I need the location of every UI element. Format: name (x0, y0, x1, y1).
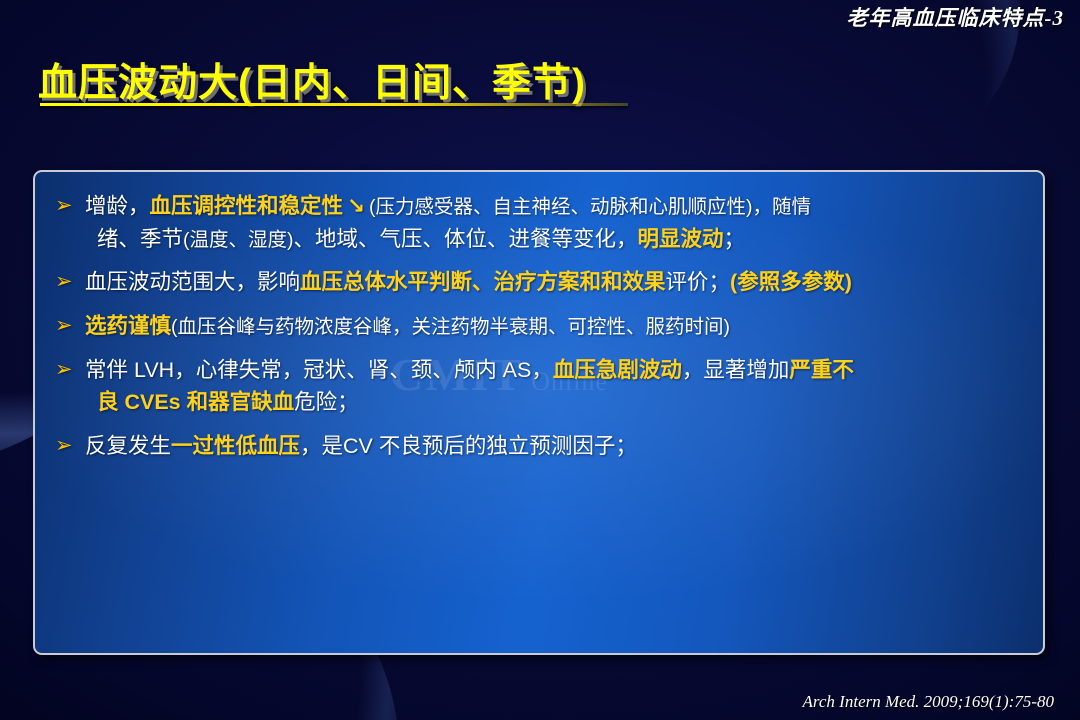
bullet-line: 反复发生一过性低血压，是CV 不良预后的独立预测因子； (85, 430, 1029, 463)
page-title: 血压波动大(日内、日间、季节) (38, 52, 586, 108)
text-segment: 常伴 LVH，心律失常，冠状、肾、颈、颅内 AS， (85, 358, 553, 382)
bullet-text: 反复发生一过性低血压，是CV 不良预后的独立预测因子； (85, 430, 1029, 463)
text-segment: 血压波动范围大，影响 (85, 270, 300, 294)
bullet-line: 绪、季节(温度、湿度)、地域、气压、体位、进餐等变化，明显波动； (85, 223, 1029, 256)
text-segment: 血压调控性和稳定性 (150, 194, 344, 218)
text-segment: ↘ (343, 194, 369, 218)
text-segment: 评价； (666, 270, 731, 294)
bullet-arrow-icon: ➢ (51, 310, 85, 342)
title-underline (40, 103, 628, 106)
slide-header-label: 老年高血压临床特点-3 (847, 2, 1065, 32)
text-segment: 明显波动 (638, 227, 724, 251)
slide-canvas: 老年高血压临床特点-3 血压波动大(日内、日间、季节) CMIT Online … (0, 0, 1080, 720)
bullet-arrow-icon: ➢ (51, 266, 85, 298)
bullet-item: ➢血压波动范围大，影响血压总体水平判断、治疗方案和和效果评价；(参照多参数) (51, 266, 1029, 299)
bullet-arrow-icon: ➢ (51, 354, 85, 386)
bullet-line: 选药谨慎(血压谷峰与药物浓度谷峰，关注药物半衰期、可控性、服药时间) (85, 310, 1029, 343)
bullet-line: 良 CVEs 和器官缺血危险； (85, 386, 1029, 419)
bullet-text: 血压波动范围大，影响血压总体水平判断、治疗方案和和效果评价；(参照多参数) (85, 266, 1029, 299)
bullet-list: ➢增龄，血压调控性和稳定性↘(压力感受器、自主神经、动脉和心肌顺应性)，随情绪、… (35, 172, 1043, 463)
text-segment: 血压总体水平判断、治疗方案和和效果 (300, 270, 666, 294)
bullet-line: 增龄，血压调控性和稳定性↘(压力感受器、自主神经、动脉和心肌顺应性)，随情 (85, 190, 1029, 223)
text-segment: 血压急剧波动 (553, 358, 682, 382)
bullet-arrow-icon: ➢ (51, 190, 85, 222)
text-segment: 增龄， (85, 194, 150, 218)
text-segment: 良 CVEs 和器官缺血 (97, 390, 294, 414)
bullet-arrow-icon: ➢ (51, 430, 85, 462)
bullet-text: 常伴 LVH，心律失常，冠状、肾、颈、颅内 AS，血压急剧波动，显著增加严重不良… (85, 354, 1029, 419)
text-segment: 危险； (294, 390, 359, 414)
bullet-item: ➢增龄，血压调控性和稳定性↘(压力感受器、自主神经、动脉和心肌顺应性)，随情绪、… (51, 190, 1029, 255)
text-segment: 、地域、气压、体位、进餐等变化， (294, 227, 638, 251)
text-segment: ，是CV 不良预后的独立预测因子； (300, 434, 637, 458)
text-segment: (血压谷峰与药物浓度谷峰，关注药物半衰期、可控性、服药时间) (171, 316, 730, 338)
text-segment: 反复发生 (85, 434, 171, 458)
text-segment: 选药谨慎 (85, 314, 171, 338)
text-segment: (参照多参数) (730, 270, 852, 294)
bullet-line: 常伴 LVH，心律失常，冠状、肾、颈、颅内 AS，血压急剧波动，显著增加严重不 (85, 354, 1029, 387)
text-segment: (压力感受器、自主神经、动脉和心肌顺应性)，随情 (369, 196, 811, 218)
bullet-item: ➢选药谨慎(血压谷峰与药物浓度谷峰，关注药物半衰期、可控性、服药时间) (51, 310, 1029, 343)
text-segment: ，显著增加 (682, 358, 790, 382)
bullet-item: ➢反复发生一过性低血压，是CV 不良预后的独立预测因子； (51, 430, 1029, 463)
bullet-text: 选药谨慎(血压谷峰与药物浓度谷峰，关注药物半衰期、可控性、服药时间) (85, 310, 1029, 343)
bullet-text: 增龄，血压调控性和稳定性↘(压力感受器、自主神经、动脉和心肌顺应性)，随情绪、季… (85, 190, 1029, 255)
text-segment: ； (724, 227, 746, 251)
bullet-line: 血压波动范围大，影响血压总体水平判断、治疗方案和和效果评价；(参照多参数) (85, 266, 1029, 299)
bullet-item: ➢常伴 LVH，心律失常，冠状、肾、颈、颅内 AS，血压急剧波动，显著增加严重不… (51, 354, 1029, 419)
text-segment: (温度、湿度) (183, 229, 294, 251)
text-segment: 一过性低血压 (171, 434, 300, 458)
text-segment: 绪、季节 (97, 227, 183, 251)
content-panel: CMIT Online ➢增龄，血压调控性和稳定性↘(压力感受器、自主神经、动脉… (33, 170, 1045, 655)
text-segment: 严重不 (789, 358, 854, 382)
footer-citation: Arch Intern Med. 2009;169(1):75-80 (803, 692, 1054, 712)
